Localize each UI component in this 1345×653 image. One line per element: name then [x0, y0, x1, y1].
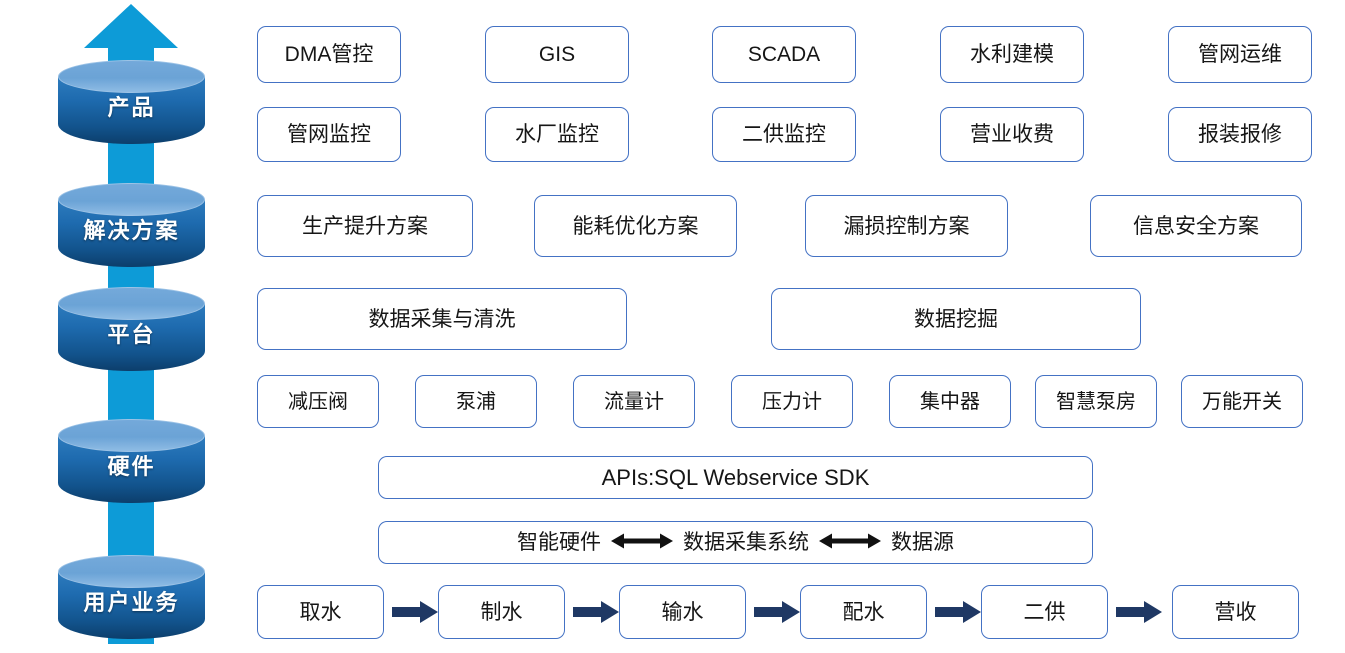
hardware-node[interactable]: 减压阀 [257, 375, 379, 428]
product-node[interactable]: 营业收费 [940, 107, 1084, 162]
process-arrow-icon [391, 600, 439, 624]
dataflow-bar-content: 智能硬件 数据采集系统 数据源 [517, 532, 954, 553]
process-node[interactable]: 输水 [619, 585, 746, 639]
cylinder-top [58, 60, 205, 93]
solution-node[interactable]: 能耗优化方案 [534, 195, 737, 257]
double-arrow-icon [611, 532, 673, 553]
solution-node[interactable]: 信息安全方案 [1090, 195, 1302, 257]
platform-node[interactable]: 数据采集与清洗 [257, 288, 627, 350]
layer-label-business: 用户业务 [58, 585, 205, 617]
process-node[interactable]: 配水 [800, 585, 927, 639]
process-node[interactable]: 营收 [1172, 585, 1299, 639]
up-arrow-head-icon [84, 4, 178, 48]
dataflow-segment-collection: 数据采集系统 [683, 532, 809, 553]
hardware-node[interactable]: 万能开关 [1181, 375, 1303, 428]
hardware-node[interactable]: 智慧泵房 [1035, 375, 1157, 428]
product-node[interactable]: 水利建模 [940, 26, 1084, 83]
layer-cylinder-product[interactable]: 产品 [58, 60, 205, 144]
hardware-node[interactable]: 泵浦 [415, 375, 537, 428]
dataflow-segment-source: 数据源 [891, 532, 954, 553]
product-node[interactable]: SCADA [712, 26, 856, 83]
product-node[interactable]: 管网监控 [257, 107, 401, 162]
platform-node[interactable]: 数据挖掘 [771, 288, 1141, 350]
cylinder-top [58, 555, 205, 588]
cylinder-top [58, 183, 205, 216]
architecture-diagram: 产品 解决方案 平台 硬件 用户业务 DMA管控 GIS SCADA 水利建模 [0, 0, 1345, 653]
product-node[interactable]: 管网运维 [1168, 26, 1312, 83]
layer-content-area: DMA管控 GIS SCADA 水利建模 管网运维 管网监控 水厂监控 二供监控… [250, 0, 1345, 653]
process-node[interactable]: 取水 [257, 585, 384, 639]
product-node[interactable]: DMA管控 [257, 26, 401, 83]
process-arrow-icon [934, 600, 982, 624]
cylinder-top [58, 419, 205, 452]
process-node[interactable]: 二供 [981, 585, 1108, 639]
dataflow-segment-hardware: 智能硬件 [517, 532, 601, 553]
solution-node[interactable]: 漏损控制方案 [805, 195, 1008, 257]
product-node[interactable]: GIS [485, 26, 629, 83]
layer-label-solution: 解决方案 [58, 213, 205, 245]
process-node[interactable]: 制水 [438, 585, 565, 639]
double-arrow-icon [819, 532, 881, 553]
hardware-node[interactable]: 流量计 [573, 375, 695, 428]
process-arrow-icon [572, 600, 620, 624]
hardware-node[interactable]: 集中器 [889, 375, 1011, 428]
cylinder-top [58, 287, 205, 320]
layer-pillar: 产品 解决方案 平台 硬件 用户业务 [0, 0, 250, 653]
product-node[interactable]: 报装报修 [1168, 107, 1312, 162]
layer-label-platform: 平台 [58, 317, 205, 349]
product-node[interactable]: 二供监控 [712, 107, 856, 162]
layer-label-product: 产品 [58, 90, 205, 122]
dataflow-bar[interactable]: 智能硬件 数据采集系统 数据源 [378, 521, 1093, 564]
layer-cylinder-hardware[interactable]: 硬件 [58, 419, 205, 503]
layer-label-hardware: 硬件 [58, 449, 205, 481]
solution-node[interactable]: 生产提升方案 [257, 195, 473, 257]
product-node[interactable]: 水厂监控 [485, 107, 629, 162]
layer-cylinder-platform[interactable]: 平台 [58, 287, 205, 371]
hardware-node[interactable]: 压力计 [731, 375, 853, 428]
api-bar[interactable]: APIs:SQL Webservice SDK [378, 456, 1093, 499]
process-arrow-icon [753, 600, 801, 624]
layer-cylinder-solution[interactable]: 解决方案 [58, 183, 205, 267]
layer-cylinder-business[interactable]: 用户业务 [58, 555, 205, 639]
process-arrow-icon [1115, 600, 1163, 624]
